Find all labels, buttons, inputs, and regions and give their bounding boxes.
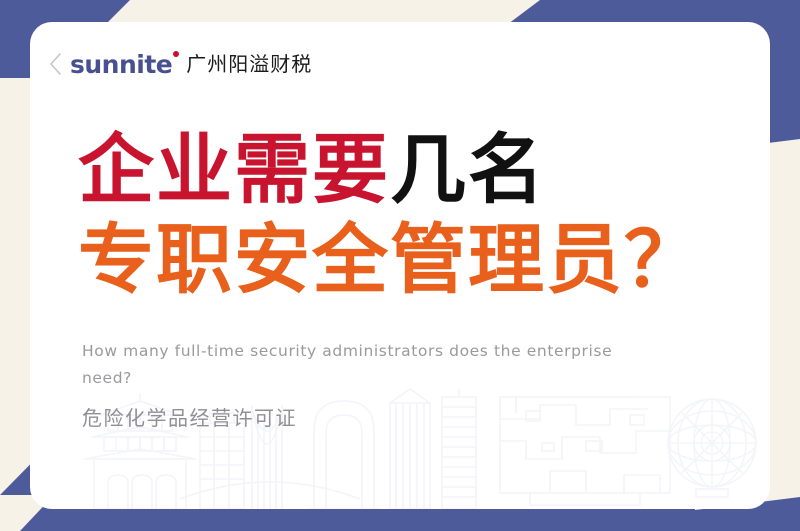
headline-line1-black: 几名 [390, 125, 546, 214]
subtitle-english: How many full-time security administrato… [82, 338, 642, 392]
headline-block: 企业需要几名 专职安全管理员？ [78, 132, 758, 298]
poster-canvas: sunnite 广州阳溢财税 企业需要几名 专职安全管理员？ How many … [0, 0, 800, 531]
chevron-left-icon [49, 53, 62, 75]
brand-logo[interactable]: sunnite [70, 52, 172, 77]
wire-globe [668, 399, 756, 497]
content-card: sunnite 广州阳溢财税 企业需要几名 专职安全管理员？ How many … [30, 22, 770, 509]
brand-dot-icon [173, 51, 179, 57]
tall-tower [390, 389, 430, 509]
headline-line1-red: 企业需要 [78, 125, 390, 214]
city-skyline-watermark [30, 379, 770, 509]
circuit-board [500, 397, 670, 505]
back-button[interactable] [44, 49, 66, 79]
card-header: sunnite 广州阳溢财税 [44, 44, 312, 84]
striped-skyscraper [442, 389, 476, 509]
brand-name-cn: 广州阳溢财税 [186, 54, 312, 74]
arch-monument [306, 401, 382, 509]
logo-wordmark: sunnite [70, 52, 172, 77]
subtitle-chinese: 危险化学品经营许可证 [82, 402, 297, 431]
headline-line-1: 企业需要几名 [78, 132, 758, 208]
headline-line-2: 专职安全管理员？ [78, 222, 758, 298]
